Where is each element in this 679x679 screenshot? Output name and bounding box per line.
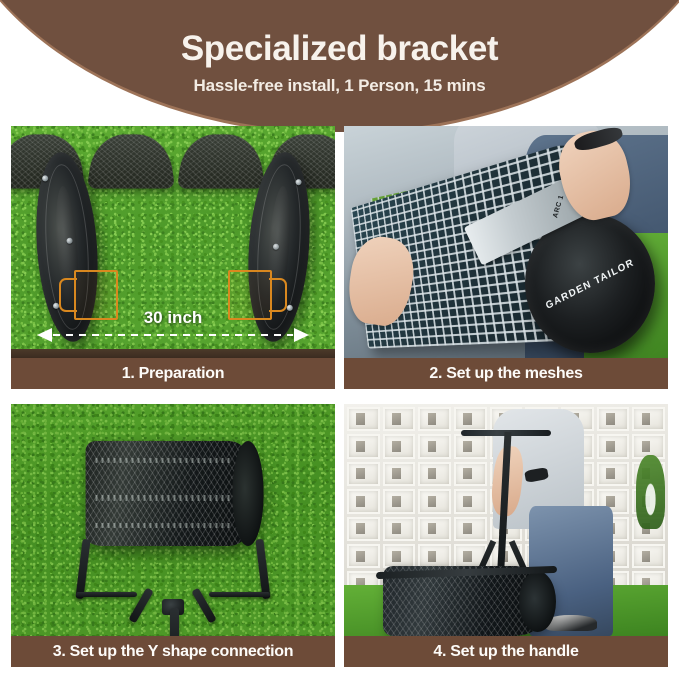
wall-block xyxy=(383,462,416,486)
wall-block xyxy=(383,544,416,568)
steps-grid: 30 inch 1. Preparation ARC 1 GARDEN TAIL xyxy=(11,126,668,667)
wall-block xyxy=(454,407,487,431)
wall-block xyxy=(597,434,630,458)
bracket-hook-right xyxy=(269,278,287,312)
wall-block xyxy=(454,434,487,458)
header-text-block: Specialized bracket Hassle-free install,… xyxy=(0,0,679,96)
wall-block xyxy=(383,517,416,541)
arrow-right-icon xyxy=(294,328,309,342)
step-4-photo xyxy=(344,404,668,636)
wall-block xyxy=(418,462,451,486)
wall-block xyxy=(347,407,380,431)
wall-block xyxy=(454,489,487,513)
wall-block xyxy=(383,407,416,431)
y-frame-stem xyxy=(170,608,179,636)
wall-block xyxy=(632,407,665,431)
drum-band xyxy=(96,458,232,463)
potted-plant xyxy=(636,455,665,529)
measurement-label: 30 inch xyxy=(11,308,335,328)
wall-block xyxy=(632,544,665,568)
y-frame-crossbar-left xyxy=(76,592,138,597)
wall-block xyxy=(383,434,416,458)
wall-block xyxy=(418,517,451,541)
wall-block xyxy=(454,462,487,486)
wall-block xyxy=(347,517,380,541)
wall-block xyxy=(383,489,416,513)
step-3-photo xyxy=(11,404,335,636)
measurement-dashed-line xyxy=(53,334,293,336)
wall-block xyxy=(418,489,451,513)
wall-block xyxy=(347,462,380,486)
wall-block xyxy=(597,407,630,431)
soil-strip xyxy=(11,349,335,358)
bolt-icon xyxy=(66,238,72,244)
drum-band xyxy=(96,495,232,500)
arrow-left-icon xyxy=(37,328,52,342)
bracket-hook-left xyxy=(59,278,77,312)
step-2-caption: 2. Set up the meshes xyxy=(344,358,668,389)
step-panel-1: 30 inch 1. Preparation xyxy=(11,126,335,389)
step-2-photo: ARC 1 GARDEN TAILOR xyxy=(344,126,668,358)
wall-block xyxy=(347,489,380,513)
page-title: Specialized bracket xyxy=(0,0,679,67)
mesh-drum xyxy=(86,441,261,545)
step-panel-3: 3. Set up the Y shape connection xyxy=(11,404,335,667)
infographic-page: Specialized bracket Hassle-free install,… xyxy=(0,0,679,679)
wall-block xyxy=(418,434,451,458)
bolt-icon xyxy=(42,175,48,181)
step-1-caption: 1. Preparation xyxy=(11,358,335,389)
drum-end-cap xyxy=(519,571,556,632)
bolt-icon xyxy=(295,179,301,185)
page-subtitle: Hassle-free install, 1 Person, 15 mins xyxy=(0,67,679,96)
mesh-sheet xyxy=(87,134,175,188)
wall-block xyxy=(454,517,487,541)
y-frame-crossbar-right xyxy=(209,592,271,597)
step-1-photo: 30 inch xyxy=(11,126,335,358)
step-panel-4: 4. Set up the handle xyxy=(344,404,668,667)
step-4-caption: 4. Set up the handle xyxy=(344,636,668,667)
wall-block xyxy=(347,544,380,568)
step-3-caption: 3. Set up the Y shape connection xyxy=(11,636,335,667)
drum-band xyxy=(96,523,232,528)
wall-block xyxy=(418,407,451,431)
bolt-icon xyxy=(273,244,279,250)
wall-block xyxy=(418,544,451,568)
step-panel-2: ARC 1 GARDEN TAILOR 2. Set up the meshes xyxy=(344,126,668,389)
mesh-sheet xyxy=(177,134,265,188)
header-banner: Specialized bracket Hassle-free install,… xyxy=(0,0,679,132)
wall-block xyxy=(597,462,630,486)
wall-block xyxy=(347,434,380,458)
